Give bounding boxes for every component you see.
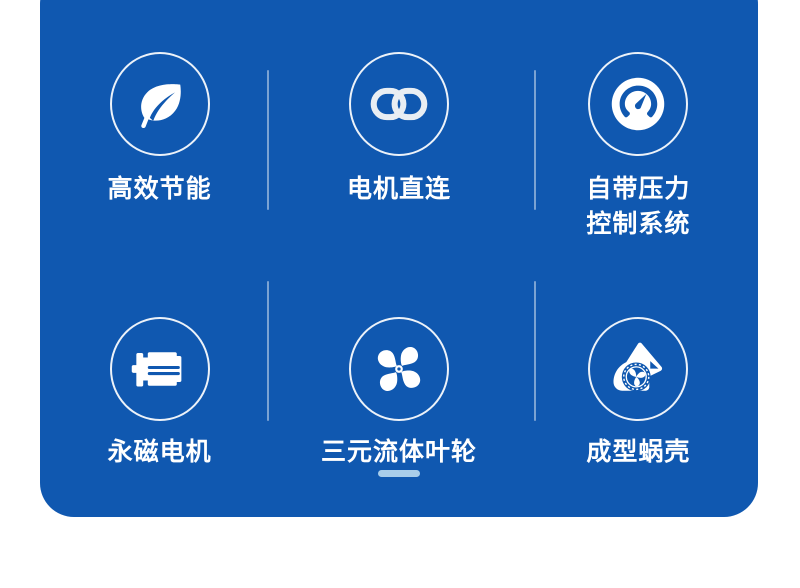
- feature-label: 自带压力 控制系统: [586, 172, 690, 242]
- icon-ring: [349, 52, 449, 156]
- icon-ring: [110, 52, 210, 156]
- column-divider: [534, 281, 536, 421]
- column-divider: [267, 70, 269, 210]
- feature-item-volute-casing[interactable]: 成型蜗壳: [519, 317, 758, 522]
- chain-link-icon: [370, 84, 428, 124]
- pressure-gauge-icon: [610, 76, 666, 132]
- column-divider: [534, 70, 536, 210]
- fan-impeller-icon: [371, 341, 427, 397]
- feature-item-direct-drive[interactable]: 电机直连: [279, 52, 518, 317]
- icon-ring: [110, 317, 210, 421]
- feature-label: 三元流体叶轮: [321, 435, 477, 470]
- volute-casing-icon: [610, 340, 666, 398]
- feature-item-energy-saving[interactable]: 高效节能: [40, 52, 279, 317]
- bottom-dash-indicator: [378, 470, 420, 477]
- feature-label: 高效节能: [108, 172, 212, 207]
- leaf-icon: [133, 77, 187, 131]
- feature-label: 成型蜗壳: [586, 435, 690, 470]
- feature-label: 电机直连: [347, 172, 451, 207]
- icon-ring: [588, 317, 688, 421]
- feature-highlights-banner: 高效节能 电机直连: [0, 0, 800, 588]
- electric-motor-icon: [131, 347, 189, 391]
- icon-ring: [349, 317, 449, 421]
- feature-label: 永磁电机: [108, 435, 212, 470]
- feature-item-impeller[interactable]: 三元流体叶轮: [279, 317, 518, 522]
- feature-item-permanent-magnet-motor[interactable]: 永磁电机: [40, 317, 279, 522]
- column-divider: [267, 281, 269, 421]
- feature-grid: 高效节能 电机直连: [40, 0, 758, 517]
- feature-item-pressure-control[interactable]: 自带压力 控制系统: [519, 52, 758, 317]
- icon-ring: [588, 52, 688, 156]
